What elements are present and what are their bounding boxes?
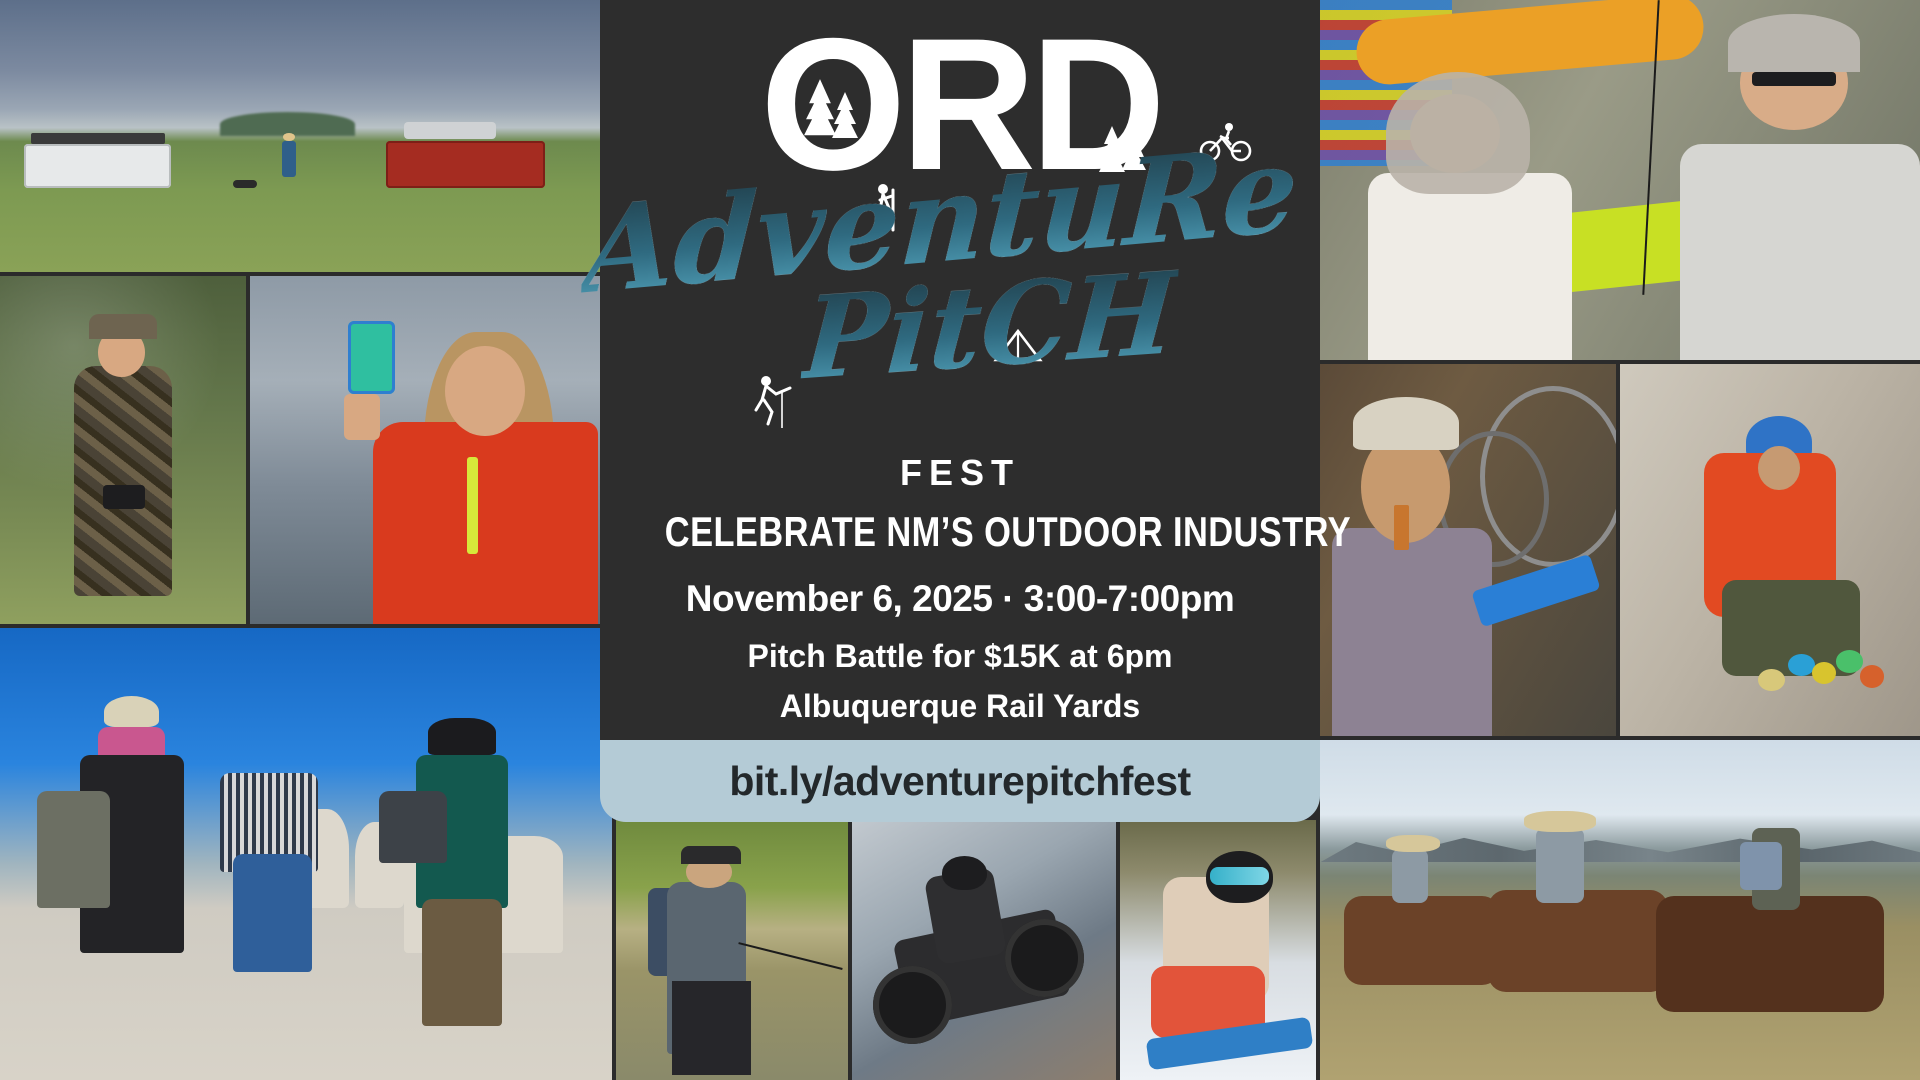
event-headline: CELEBRATE NM’S OUTDOOR INDUSTRY (665, 508, 1255, 556)
registration-url-bar[interactable]: bit.ly/adventurepitchfest (600, 740, 1320, 822)
event-date-time: November 6, 2025 · 3:00-7:00pm (600, 578, 1320, 620)
script-line-pitch: PitCH (799, 247, 1181, 405)
photo-skier: Skier in red pants and helmet carving th… (1120, 820, 1316, 1080)
photo-kayak-shop: Two kayak shop owners laughing in front … (1320, 0, 1920, 360)
photo-rock-climber: Climber in red jacket and blue helmet so… (1620, 364, 1920, 736)
poster-canvas: Two overland 4x4 vehicles parked in a gr… (0, 0, 1920, 1080)
photo-horseback-riders: Four riders on horseback in high desert … (1320, 740, 1920, 1080)
photo-badlands-hikers: Group of photographers and hikers with b… (0, 628, 612, 1080)
photo-dirt-bike: Rider jumping a dirt bike against a clou… (852, 820, 1116, 1080)
photo-hunter: Smiling hunter in camouflage holding bin… (0, 276, 246, 624)
pine-tree-icon (796, 56, 866, 142)
photo-overlanding: Two overland 4x4 vehicles parked in a gr… (0, 0, 612, 272)
event-info-card: ORD (600, 0, 1320, 740)
registration-url-text[interactable]: bit.ly/adventurepitchfest (729, 758, 1190, 805)
pitch-battle-detail: Pitch Battle for $15K at 6pm (600, 638, 1320, 675)
photo-phone-case: Young woman in red pullover holding a te… (250, 276, 612, 624)
photo-fly-fishing: Backpacker fly fishing while standing in… (616, 820, 848, 1080)
event-venue: Albuquerque Rail Yards (600, 688, 1320, 725)
photo-bike-shop: Woman in beanie and denim jacket standin… (1320, 364, 1616, 736)
fest-word: FEST (600, 452, 1320, 494)
adventure-pitch-script: AdventuRe PitCH (600, 150, 1320, 392)
ord-adventure-pitch-fest-logo: ORD (600, 0, 1320, 500)
